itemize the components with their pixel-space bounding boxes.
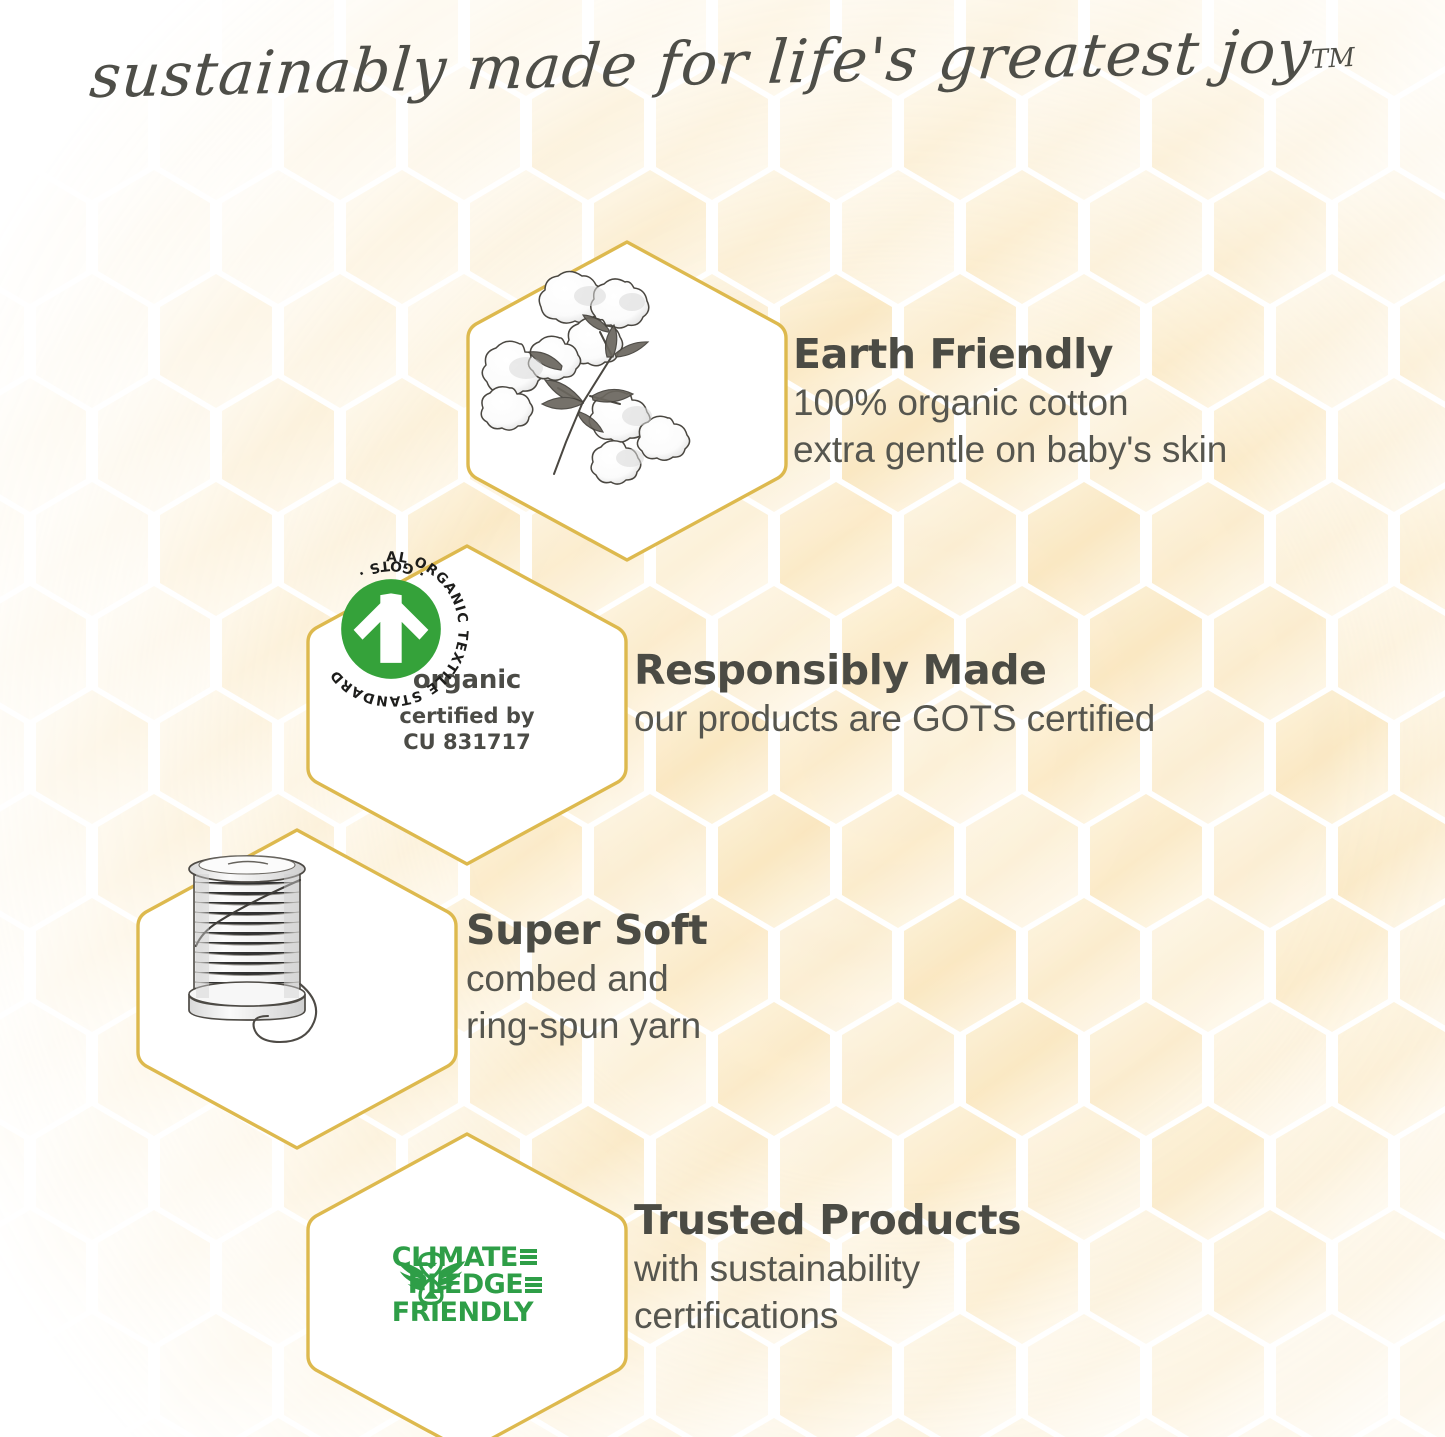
feature-hexagon-earth-friendly (462, 236, 792, 566)
feature-line: extra gentle on baby's skin (793, 427, 1227, 474)
feature-title: Earth Friendly (793, 332, 1227, 378)
feature-hexagon-trusted-products: CLIMATE PLEDGE FRIENDLY (302, 1128, 632, 1437)
text-super-soft: Super Soft combed and ring-spun yarn (466, 908, 708, 1049)
gots-logo-icon: GLOBAL ORGANIC TEXTILE STANDARD · GOTS · (302, 540, 480, 718)
feature-line: ring-spun yarn (466, 1003, 708, 1050)
winged-hourglass-icon (392, 1244, 470, 1316)
feature-hexagon-super-soft (132, 824, 462, 1154)
cpf-bars-icon (525, 1277, 542, 1293)
climate-pledge-friendly-badge: CLIMATE PLEDGE FRIENDLY (392, 1244, 542, 1327)
feature-title: Responsibly Made (634, 648, 1155, 694)
feature-line: our products are GOTS certified (634, 696, 1155, 743)
thread-spool-icon (132, 824, 362, 1054)
cpf-bars-icon (520, 1249, 537, 1265)
trademark-symbol: TM (1310, 43, 1355, 75)
feature-line: combed and (466, 956, 708, 1003)
gots-certifier-code: CU 831717 (399, 729, 534, 755)
gots-badge: GLOBAL ORGANIC TEXTILE STANDARD · GOTS ·… (399, 655, 534, 756)
feature-line: with sustainability (634, 1246, 1021, 1293)
page-title: sustainably made for life's greatest joy… (0, 42, 1445, 112)
feature-line: certifications (634, 1293, 1021, 1340)
feature-title: Super Soft (466, 908, 708, 954)
infographic-canvas: sustainably made for life's greatest joy… (0, 0, 1445, 1437)
text-trusted-products: Trusted Products with sustainability cer… (634, 1198, 1021, 1339)
text-earth-friendly: Earth Friendly 100% organic cotton extra… (793, 332, 1227, 473)
feature-line: 100% organic cotton (793, 380, 1227, 427)
feature-title: Trusted Products (634, 1198, 1021, 1244)
feature-hexagon-responsibly-made: GLOBAL ORGANIC TEXTILE STANDARD · GOTS ·… (302, 540, 632, 870)
cotton-plant-icon (462, 236, 712, 486)
text-responsibly-made: Responsibly Made our products are GOTS c… (634, 648, 1155, 743)
